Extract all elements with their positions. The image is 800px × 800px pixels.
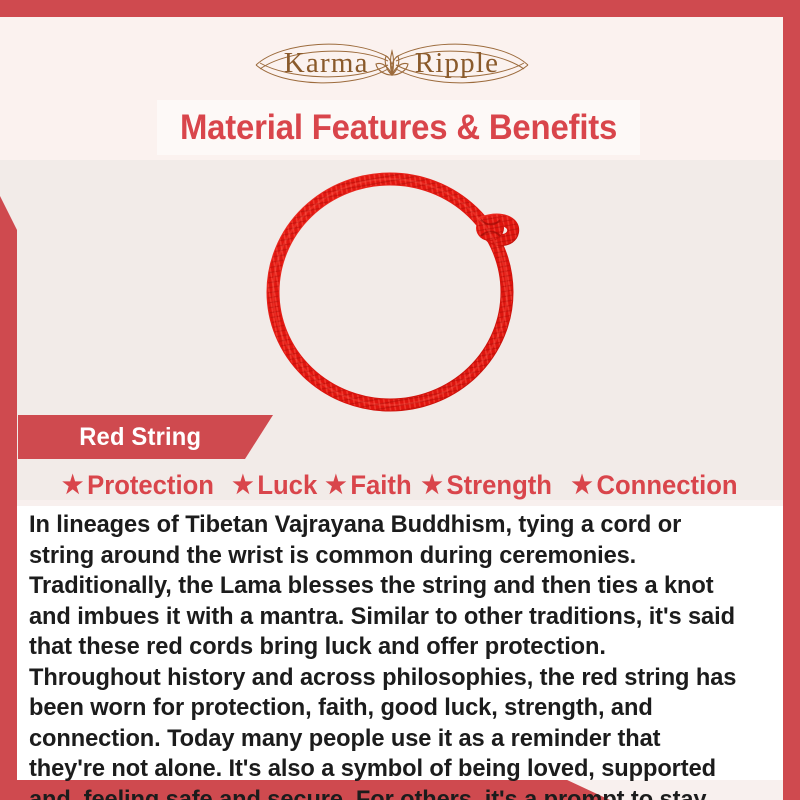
benefit-label: Faith bbox=[350, 470, 411, 501]
red-string-bracelet-image bbox=[247, 166, 547, 416]
description-paragraph: In lineages of Tibetan Vajrayana Buddhis… bbox=[29, 510, 739, 800]
page-title: Material Features & Benefits bbox=[180, 108, 617, 148]
benefit-label: Strength bbox=[447, 470, 552, 501]
material-ribbon: Red String bbox=[18, 415, 273, 459]
frame-right-bar bbox=[783, 0, 800, 800]
logo-text-karma: Karma bbox=[284, 47, 369, 80]
poster-root: Karma Ripple Material Features & Benefit… bbox=[0, 0, 800, 800]
product-image-area bbox=[17, 160, 783, 415]
lotus-flower-icon bbox=[373, 48, 411, 78]
benefit-label: Luck bbox=[257, 470, 317, 501]
star-icon: ★ bbox=[572, 473, 593, 498]
benefit-faith: ★ Faith bbox=[325, 470, 411, 501]
star-icon: ★ bbox=[325, 473, 346, 498]
benefit-keyword-row: ★ Protection ★ Luck ★ Faith ★ Strength ★… bbox=[17, 466, 783, 504]
star-icon: ★ bbox=[62, 473, 83, 498]
ribbon-label: Red String bbox=[79, 423, 201, 452]
logo-text-ripple: Ripple bbox=[415, 47, 500, 80]
benefit-strength: ★ Strength bbox=[421, 470, 552, 501]
benefit-luck: ★ Luck bbox=[232, 470, 317, 501]
description-panel: In lineages of Tibetan Vajrayana Buddhis… bbox=[17, 506, 783, 780]
frame-left-bar bbox=[0, 196, 17, 796]
frame-top-bar bbox=[0, 0, 800, 17]
title-banner: Material Features & Benefits bbox=[157, 100, 640, 155]
benefit-connection: ★ Connection bbox=[572, 470, 738, 501]
benefit-protection: ★ Protection bbox=[62, 470, 214, 501]
star-icon: ★ bbox=[421, 473, 442, 498]
brand-logo: Karma Ripple bbox=[0, 34, 783, 92]
benefit-label: Protection bbox=[87, 470, 214, 501]
benefit-label: Connection bbox=[597, 470, 738, 501]
star-icon: ★ bbox=[232, 473, 253, 498]
